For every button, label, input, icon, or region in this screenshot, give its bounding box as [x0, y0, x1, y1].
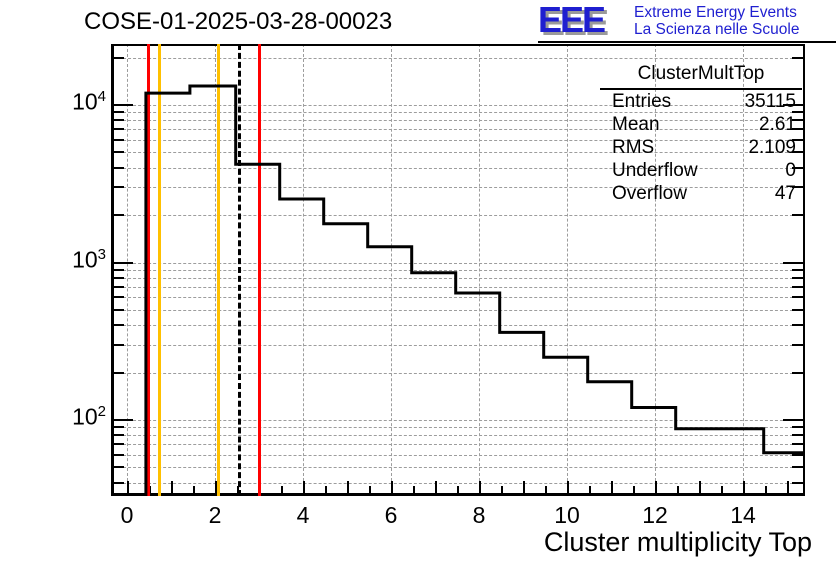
x-tick-label: 10 [537, 502, 597, 529]
y-tick-mark-right [792, 277, 803, 279]
header-divider [538, 41, 836, 43]
y-tick-mark [113, 324, 124, 326]
eee-logo-line2: La Scienza nelle Scuole [634, 21, 799, 38]
y-tick-mark-right [783, 262, 803, 264]
y-tick-mark [113, 277, 124, 279]
y-tick-label: 104 [20, 88, 106, 116]
marker-line-orange-left [158, 44, 161, 496]
y-tick-mark-right [792, 466, 803, 468]
eee-logo-line1: Extreme Energy Events [634, 4, 799, 21]
y-tick-mark-right [792, 443, 803, 445]
x-tick-mark [699, 481, 701, 494]
plot-frame-right [803, 44, 805, 496]
stats-row: Underflow0 [600, 159, 802, 182]
stats-box: ClusterMultTop Entries35115Mean2.61RMS2.… [600, 62, 802, 205]
x-tick-mark [677, 486, 679, 494]
y-tick-mark-right [792, 269, 803, 271]
stats-row-key: Entries [612, 91, 671, 112]
plot-frame-top [111, 44, 805, 46]
y-tick-mark [113, 214, 124, 216]
stats-row-key: Overflow [612, 183, 687, 204]
x-tick-mark [391, 481, 393, 494]
x-tick-label: 4 [273, 502, 333, 529]
x-tick-mark [193, 486, 195, 494]
marker-line-red-right [258, 44, 261, 496]
y-tick-mark [113, 434, 124, 436]
x-tick-mark [127, 481, 129, 494]
x-tick-label: 14 [713, 502, 773, 529]
page-title: COSE-01-2025-03-28-00023 [84, 8, 392, 36]
stats-box-rows: Entries35115Mean2.61RMS2.109Underflow0Ov… [600, 90, 802, 205]
x-tick-mark [743, 481, 745, 494]
x-tick-mark [545, 486, 547, 494]
x-tick-mark [589, 486, 591, 494]
y-tick-mark [113, 443, 124, 445]
y-tick-mark-right [783, 419, 803, 421]
stats-row: Overflow47 [600, 182, 802, 205]
y-tick-mark [113, 104, 133, 106]
x-tick-mark [765, 486, 767, 494]
y-tick-mark [113, 262, 133, 264]
marker-line-red-left [147, 44, 150, 496]
stats-row-value: 0 [785, 160, 796, 181]
y-tick-mark [113, 269, 124, 271]
y-tick-mark [113, 454, 124, 456]
x-tick-mark [611, 481, 613, 494]
marker-line-mean-dashed [238, 44, 241, 496]
plot-canvas: COSE-01-2025-03-28-00023 EEE EEE Extreme… [0, 0, 836, 572]
y-tick-mark [113, 426, 124, 428]
y-tick-mark-right [792, 296, 803, 298]
y-tick-mark-right [792, 372, 803, 374]
x-tick-mark [347, 481, 349, 494]
x-tick-mark [171, 481, 173, 494]
x-tick-label: 12 [625, 502, 685, 529]
y-tick-mark [113, 128, 124, 130]
y-tick-mark-right [792, 57, 803, 59]
eee-logo-text: Extreme Energy Events La Scienza nelle S… [634, 4, 799, 38]
y-tick-mark-right [792, 324, 803, 326]
y-tick-mark [113, 344, 124, 346]
y-tick-mark-right [792, 344, 803, 346]
y-tick-mark [113, 419, 133, 421]
y-tick-mark [113, 139, 124, 141]
y-tick-label: 103 [20, 246, 106, 274]
x-tick-label: 0 [97, 502, 157, 529]
x-axis-title: Cluster multiplicity Top [544, 527, 812, 558]
x-tick-mark [435, 481, 437, 494]
x-tick-mark [633, 486, 635, 494]
y-tick-mark [113, 372, 124, 374]
stats-row: RMS2.109 [600, 136, 802, 159]
x-tick-label: 6 [361, 502, 421, 529]
y-tick-mark [113, 286, 124, 288]
stats-row-value: 2.61 [759, 114, 796, 135]
y-tick-mark-right [792, 214, 803, 216]
x-tick-mark [721, 486, 723, 494]
y-tick-mark [113, 167, 124, 169]
x-tick-mark [325, 486, 327, 494]
x-tick-mark [479, 481, 481, 494]
eee-logo-mark: EEE EEE [538, 3, 628, 37]
stats-row: Entries35115 [600, 90, 802, 113]
stats-row-value: 47 [775, 183, 796, 204]
x-tick-mark [457, 486, 459, 494]
y-tick-mark [113, 296, 124, 298]
y-tick-mark [113, 119, 124, 121]
y-tick-label: 102 [20, 403, 106, 431]
x-tick-mark [787, 481, 789, 494]
x-tick-mark [303, 481, 305, 494]
y-tick-mark-right [792, 482, 803, 484]
stats-row: Mean2.61 [600, 113, 802, 136]
y-tick-mark-right [792, 286, 803, 288]
x-tick-mark [655, 481, 657, 494]
stats-box-title: ClusterMultTop [600, 62, 802, 90]
x-tick-mark [501, 486, 503, 494]
y-tick-mark-right [792, 309, 803, 311]
stats-row-value: 2.109 [748, 137, 796, 158]
y-tick-mark [113, 482, 124, 484]
stats-row-value: 35115 [745, 91, 796, 112]
x-tick-mark [523, 481, 525, 494]
y-tick-mark-right [792, 454, 803, 456]
y-tick-mark [113, 111, 124, 113]
x-tick-mark [413, 486, 415, 494]
y-tick-mark [113, 466, 124, 468]
x-tick-mark [281, 486, 283, 494]
x-tick-label: 2 [185, 502, 245, 529]
y-tick-mark-right [792, 426, 803, 428]
eee-logo: EEE EEE Extreme Energy Events La Scienza… [538, 2, 834, 40]
stats-row-key: Mean [612, 114, 660, 135]
marker-line-orange-right [217, 44, 220, 496]
x-tick-mark [567, 481, 569, 494]
stats-row-key: Underflow [612, 160, 698, 181]
stats-row-key: RMS [612, 137, 654, 158]
y-tick-mark [113, 151, 124, 153]
y-tick-mark [113, 309, 124, 311]
y-tick-mark [113, 186, 124, 188]
eee-logo-mark-text: EEE [538, 3, 604, 37]
y-tick-mark [113, 57, 124, 59]
y-tick-mark-right [792, 434, 803, 436]
x-tick-label: 8 [449, 502, 509, 529]
x-tick-mark [369, 486, 371, 494]
